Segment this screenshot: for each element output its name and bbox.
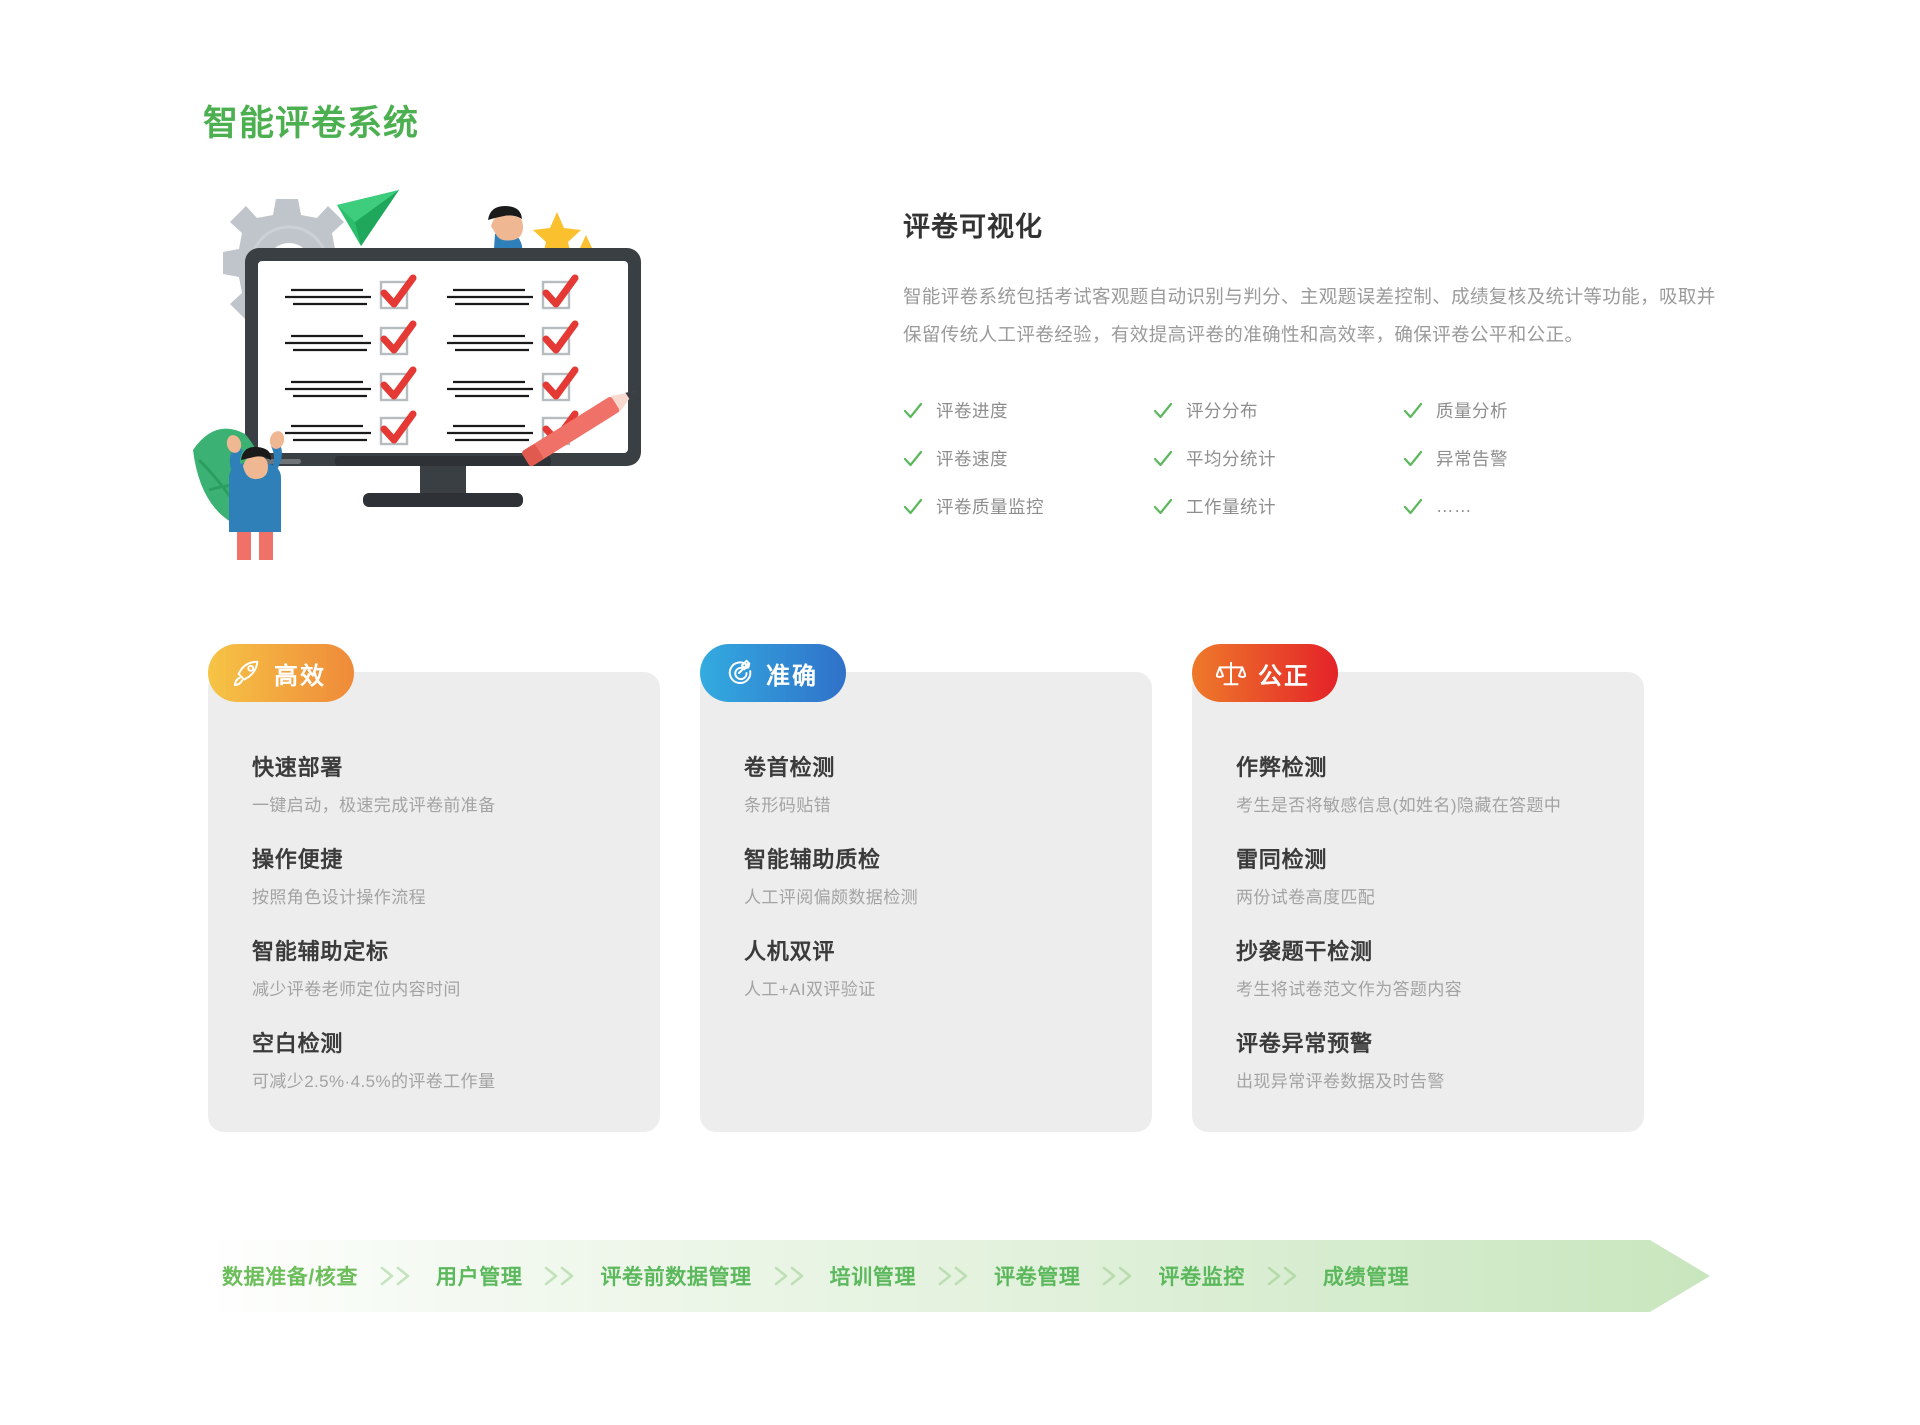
feature-item-desc: 可减少2.5%·4.5%的评卷工作量	[252, 1067, 616, 1092]
feature-item-title: 卷首检测	[744, 750, 1108, 782]
feature-check-label: 评卷质量监控	[936, 494, 1044, 519]
flow-step[interactable]: 评卷前数据管理	[586, 1261, 765, 1291]
chevron-right-icon	[930, 1265, 980, 1287]
feature-check-label: 评卷进度	[936, 398, 1008, 423]
chevron-right-icon	[1259, 1265, 1309, 1287]
feature-item-desc: 两份试卷高度匹配	[1236, 883, 1600, 908]
check-icon	[903, 497, 923, 517]
feature-checklist: 评卷进度 评分分布 质量分析 评卷速度 平均分统计 异常告警	[903, 398, 1738, 519]
feature-item-title: 操作便捷	[252, 842, 616, 874]
rocket-icon	[232, 658, 262, 688]
overview-block: 评卷可视化 智能评卷系统包括考试客观题自动识别与判分、主观题误差控制、成绩复核及…	[903, 205, 1738, 519]
feature-check-item: 评卷质量监控	[903, 494, 1153, 519]
feature-check-item: 平均分统计	[1153, 446, 1403, 471]
chevron-right-icon	[372, 1265, 422, 1287]
feature-item: 人机双评 人工+AI双评验证	[744, 934, 1108, 1000]
card-badge-label: 高效	[274, 656, 326, 691]
chevron-right-icon	[536, 1265, 586, 1287]
feature-item-desc: 人工+AI双评验证	[744, 975, 1108, 1000]
feature-item-desc: 人工评阅偏颇数据检测	[744, 883, 1108, 908]
feature-item-title: 评卷异常预警	[1236, 1026, 1600, 1058]
check-icon	[1153, 449, 1173, 469]
card-badge-efficiency: 高效	[208, 644, 354, 702]
feature-check-item: 评卷进度	[903, 398, 1153, 423]
feature-item: 抄袭题干检测 考生将试卷范文作为答题内容	[1236, 934, 1600, 1000]
feature-check-label: 质量分析	[1436, 398, 1508, 423]
check-icon	[903, 401, 923, 421]
paper-plane-icon	[337, 190, 399, 246]
check-icon	[903, 449, 923, 469]
feature-item: 空白检测 可减少2.5%·4.5%的评卷工作量	[252, 1026, 616, 1092]
feature-check-item: 异常告警	[1403, 446, 1653, 471]
feature-check-label: 评分分布	[1186, 398, 1258, 423]
feature-card-fairness: 公正 作弊检测 考生是否将敏感信息(如姓名)隐藏在答题中 雷同检测 两份试卷高度…	[1192, 672, 1644, 1132]
process-flow: 数据准备/核查 用户管理 评卷前数据管理 培训管理 评卷管理 评卷监控	[200, 1240, 1710, 1312]
scales-icon	[1216, 658, 1246, 688]
flow-step[interactable]: 评卷监控	[1144, 1261, 1258, 1291]
flow-step[interactable]: 培训管理	[816, 1261, 930, 1291]
section-paragraph: 智能评卷系统包括考试客观题自动识别与判分、主观题误差控制、成绩复核及统计等功能，…	[903, 278, 1733, 354]
feature-item-title: 抄袭题干检测	[1236, 934, 1600, 966]
feature-item-title: 智能辅助定标	[252, 934, 616, 966]
section-title: 评卷可视化	[903, 205, 1738, 244]
target-icon	[724, 658, 754, 688]
feature-item-title: 快速部署	[252, 750, 616, 782]
feature-item: 卷首检测 条形码贴错	[744, 750, 1108, 816]
feature-check-label: ……	[1436, 496, 1472, 517]
chevron-right-icon	[1094, 1265, 1144, 1287]
page-root: 智能评卷系统	[0, 0, 1920, 1425]
check-icon	[1153, 497, 1173, 517]
feature-check-item: 质量分析	[1403, 398, 1653, 423]
flow-step[interactable]: 数据准备/核查	[208, 1261, 372, 1291]
person-arms-raised	[225, 430, 286, 560]
feature-item: 智能辅助质检 人工评阅偏颇数据检测	[744, 842, 1108, 908]
feature-check-label: 平均分统计	[1186, 446, 1276, 471]
feature-check-label: 异常告警	[1436, 446, 1508, 471]
feature-item-desc: 一键启动，极速完成评卷前准备	[252, 791, 616, 816]
feature-check-label: 评卷速度	[936, 446, 1008, 471]
feature-item-desc: 减少评卷老师定位内容时间	[252, 975, 616, 1000]
check-icon	[1403, 497, 1423, 517]
feature-item-desc: 条形码贴错	[744, 791, 1108, 816]
feature-item: 智能辅助定标 减少评卷老师定位内容时间	[252, 934, 616, 1000]
feature-item: 操作便捷 按照角色设计操作流程	[252, 842, 616, 908]
feature-item: 评卷异常预警 出现异常评卷数据及时告警	[1236, 1026, 1600, 1092]
feature-item-title: 作弊检测	[1236, 750, 1600, 782]
feature-item: 雷同检测 两份试卷高度匹配	[1236, 842, 1600, 908]
feature-card-accuracy: 准确 卷首检测 条形码贴错 智能辅助质检 人工评阅偏颇数据检测 人机双评 人工+…	[700, 672, 1152, 1132]
check-icon	[1153, 401, 1173, 421]
feature-item-desc: 考生是否将敏感信息(如姓名)隐藏在答题中	[1236, 791, 1600, 816]
feature-item: 快速部署 一键启动，极速完成评卷前准备	[252, 750, 616, 816]
feature-check-item: ……	[1403, 494, 1653, 519]
feature-item-title: 雷同检测	[1236, 842, 1600, 874]
feature-item: 作弊检测 考生是否将敏感信息(如姓名)隐藏在答题中	[1236, 750, 1600, 816]
feature-item-desc: 按照角色设计操作流程	[252, 883, 616, 908]
monitor-screen	[245, 248, 641, 507]
feature-cards: 高效 快速部署 一键启动，极速完成评卷前准备 操作便捷 按照角色设计操作流程 智…	[208, 672, 1713, 1132]
card-badge-accuracy: 准确	[700, 644, 846, 702]
page-title: 智能评卷系统	[203, 95, 419, 146]
feature-item-title: 空白检测	[252, 1026, 616, 1058]
card-badge-fairness: 公正	[1192, 644, 1338, 702]
check-icon	[1403, 449, 1423, 469]
feature-check-item: 评分分布	[1153, 398, 1403, 423]
check-icon	[1403, 401, 1423, 421]
feature-item-desc: 出现异常评卷数据及时告警	[1236, 1067, 1600, 1092]
flow-step[interactable]: 成绩管理	[1309, 1261, 1423, 1291]
feature-check-label: 工作量统计	[1186, 494, 1276, 519]
chevron-right-icon	[766, 1265, 816, 1287]
flow-step[interactable]: 评卷管理	[980, 1261, 1094, 1291]
feature-item-desc: 考生将试卷范文作为答题内容	[1236, 975, 1600, 1000]
monitor-checklist-illustration	[185, 160, 815, 560]
feature-item-title: 人机双评	[744, 934, 1108, 966]
card-badge-label: 准确	[766, 656, 818, 691]
feature-card-efficiency: 高效 快速部署 一键启动，极速完成评卷前准备 操作便捷 按照角色设计操作流程 智…	[208, 672, 660, 1132]
flow-step[interactable]: 用户管理	[422, 1261, 536, 1291]
feature-item-title: 智能辅助质检	[744, 842, 1108, 874]
card-badge-label: 公正	[1258, 656, 1310, 691]
feature-check-item: 工作量统计	[1153, 494, 1403, 519]
feature-check-item: 评卷速度	[903, 446, 1153, 471]
